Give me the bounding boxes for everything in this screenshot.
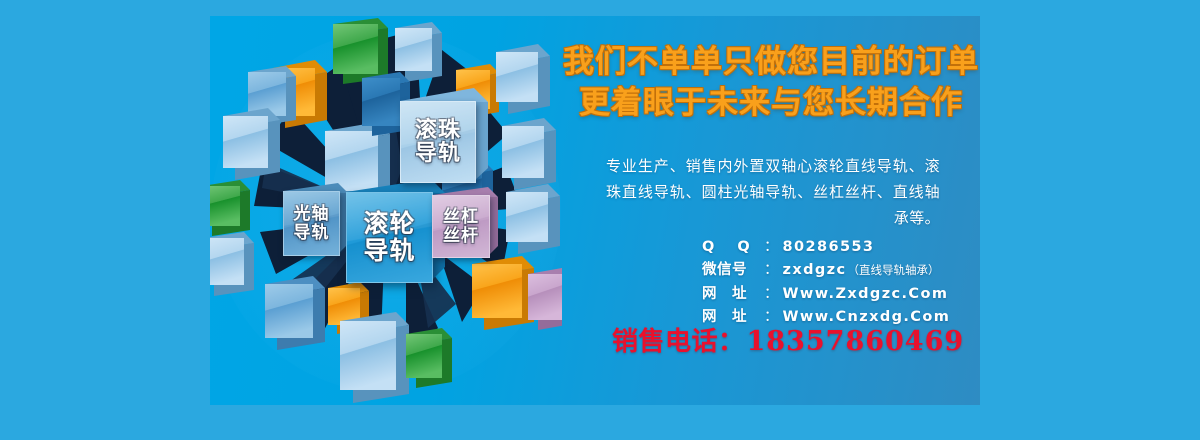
wechat-note: （直线导轨轴承） bbox=[848, 261, 940, 280]
description: 专业生产、销售内外置双轴心滚轮直线导轨、滚珠直线导轨、圆柱光轴导轨、丝杠丝杆、直… bbox=[606, 154, 940, 231]
chip-sigangsigan-line1: 丝杠 bbox=[443, 208, 479, 226]
website1-separator: ： bbox=[764, 283, 779, 306]
headline: 我们不单单只做您目前的订单 更着眼于未来与您长期合作 bbox=[562, 42, 980, 124]
qq-separator: ： bbox=[764, 236, 779, 259]
wechat-separator: ： bbox=[764, 259, 779, 282]
chip-gunzhudaogui-line2: 导轨 bbox=[415, 142, 461, 165]
chip-gunlundaogui-line2: 导轨 bbox=[363, 238, 415, 265]
contact-row-wechat: 微信号 ： zxdgzc （直线导轨轴承） bbox=[702, 259, 980, 282]
chip-guangzhoudaogui-line2: 导轨 bbox=[294, 224, 330, 242]
chip-gunzhudaogui-line1: 滚珠 bbox=[415, 119, 461, 142]
chip-gunlundaogui-line1: 滚轮 bbox=[363, 211, 415, 238]
wechat-label: 微信号 bbox=[702, 259, 764, 282]
wechat-value: zxdgzc bbox=[783, 259, 847, 282]
contact-block: Q Q ： 80286553 微信号 ： zxdgzc （直线导轨轴承） 网 址… bbox=[702, 236, 980, 330]
contact-row-qq: Q Q ： 80286553 bbox=[702, 236, 980, 259]
headline-line-1: 我们不单单只做您目前的订单 bbox=[562, 42, 980, 83]
label-chip-guangzhoudaogui: 光轴 导轨 bbox=[283, 191, 340, 256]
chip-guangzhoudaogui-line1: 光轴 bbox=[294, 205, 330, 223]
banner-content: 我们不单单只做您目前的订单 更着眼于未来与您长期合作 专业生产、销售内外置双轴心… bbox=[562, 16, 980, 405]
website1-label: 网 址 bbox=[702, 283, 764, 306]
banner-stage: 滚珠 导轨 光轴 导轨 滚轮 导轨 丝杠 丝杆 我们不单单只做您目前的订单 更着… bbox=[0, 0, 1200, 440]
sales-phone: 销售电话：18357860469 bbox=[612, 321, 980, 358]
sales-phone-number: 18357860469 bbox=[747, 326, 965, 357]
label-chip-gunzhudaogui: 滚珠 导轨 bbox=[400, 101, 476, 183]
label-chip-sigangsigan: 丝杠 丝杆 bbox=[432, 195, 490, 258]
chip-sigangsigan-line2: 丝杆 bbox=[443, 227, 479, 245]
website1-value: Www.Zxdgzc.Com bbox=[783, 283, 949, 306]
sales-phone-label: 销售电话： bbox=[612, 327, 745, 357]
headline-line-2: 更着眼于未来与您长期合作 bbox=[562, 83, 980, 124]
description-line-1: 专业生产、销售内外置双轴心滚轮直线导轨、 bbox=[606, 157, 925, 175]
qq-label: Q Q bbox=[702, 236, 764, 259]
qq-value: 80286553 bbox=[783, 236, 875, 259]
label-chip-gunlundaogui: 滚轮 导轨 bbox=[346, 192, 433, 283]
banner-panel: 滚珠 导轨 光轴 导轨 滚轮 导轨 丝杠 丝杆 我们不单单只做您目前的订单 更着… bbox=[210, 16, 980, 405]
contact-row-website-1: 网 址 ： Www.Zxdgzc.Com bbox=[702, 283, 980, 306]
